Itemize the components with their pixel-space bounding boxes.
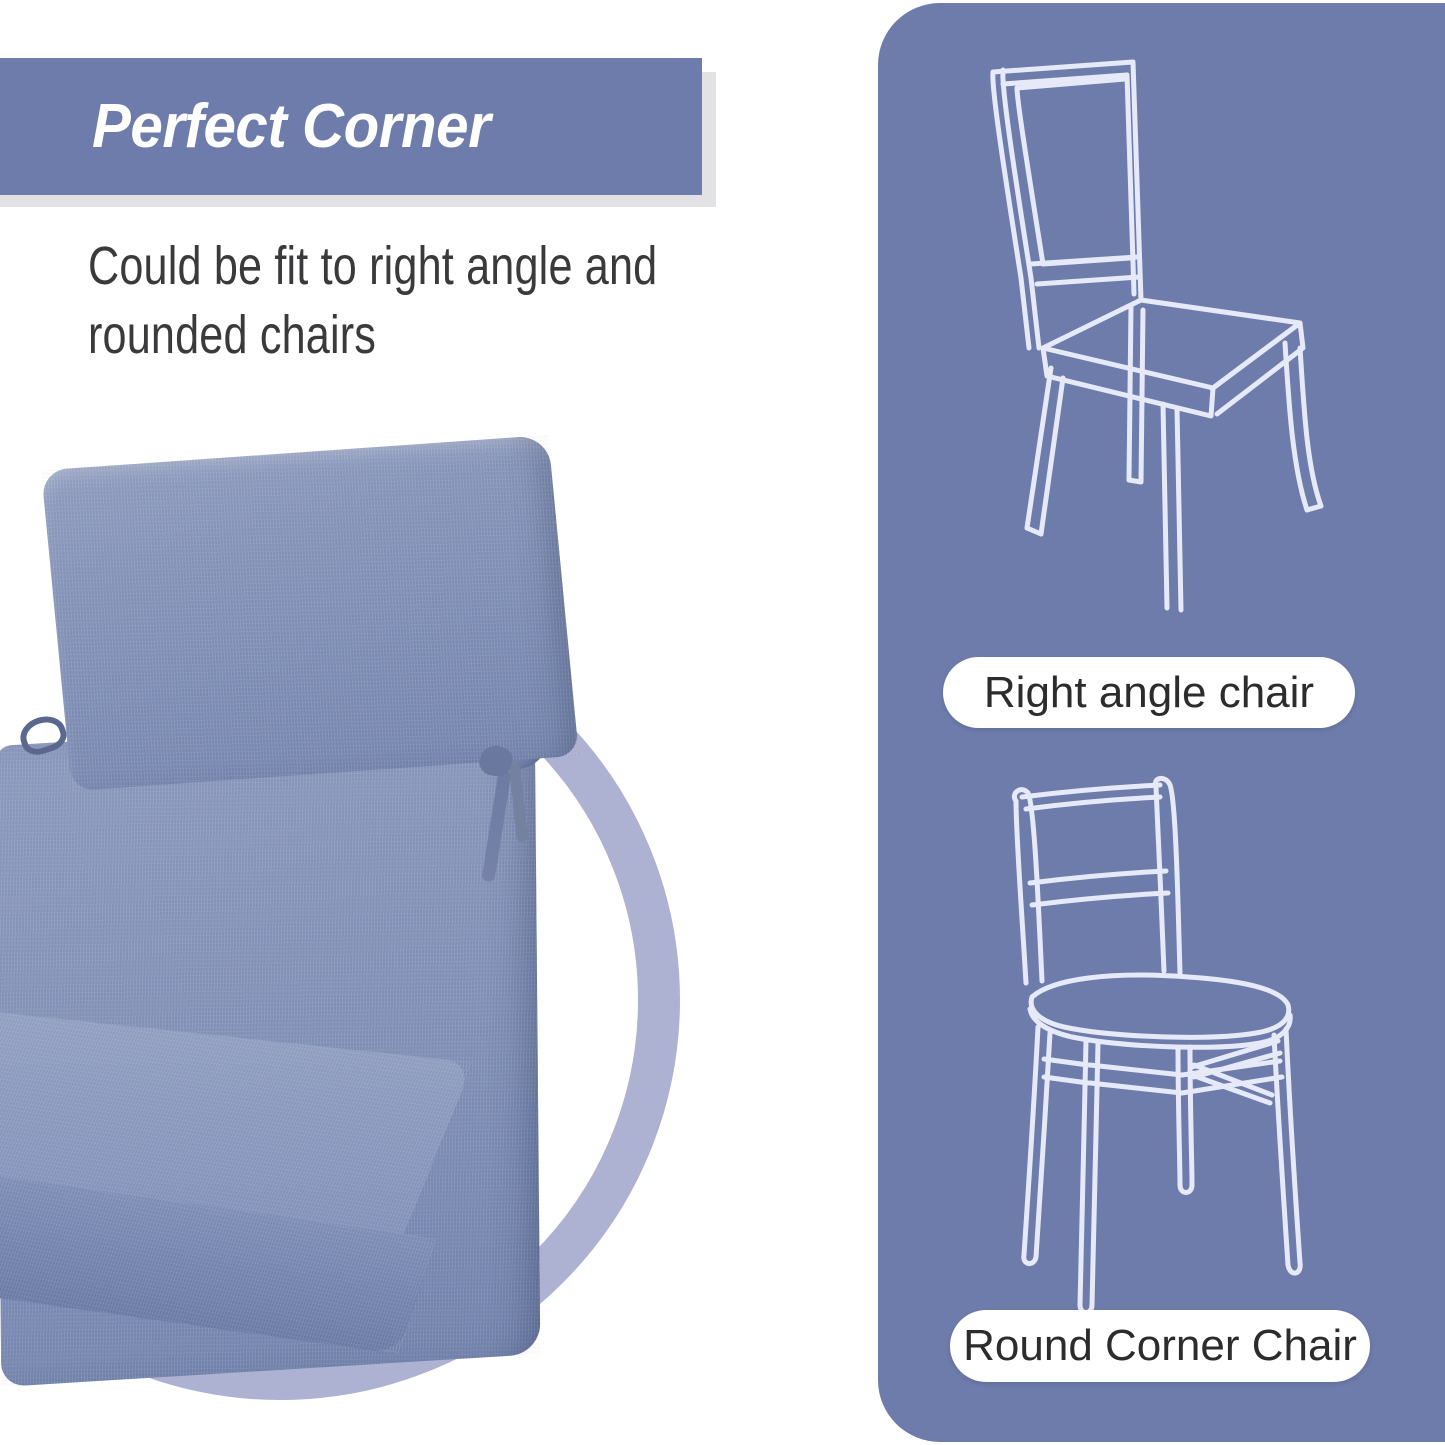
label-round-corner-chair: Round Corner Chair [950,1310,1370,1382]
cushion-back-pillow [41,435,579,791]
fabric-texture [41,435,579,791]
infographic-root: Perfect Corner Could be fit to right ang… [0,0,1445,1445]
product-cushion-image [0,430,660,1420]
right-angle-chair-icon [955,48,1345,638]
label-text: Right angle chair [984,668,1314,718]
title-banner: Perfect Corner [0,58,702,195]
subtitle-text: Could be fit to right angle and rounded … [88,232,696,370]
label-text: Round Corner Chair [963,1321,1357,1371]
page-title: Perfect Corner [92,96,490,158]
label-right-angle-chair: Right angle chair [943,657,1355,728]
round-corner-chair-icon [960,765,1350,1325]
